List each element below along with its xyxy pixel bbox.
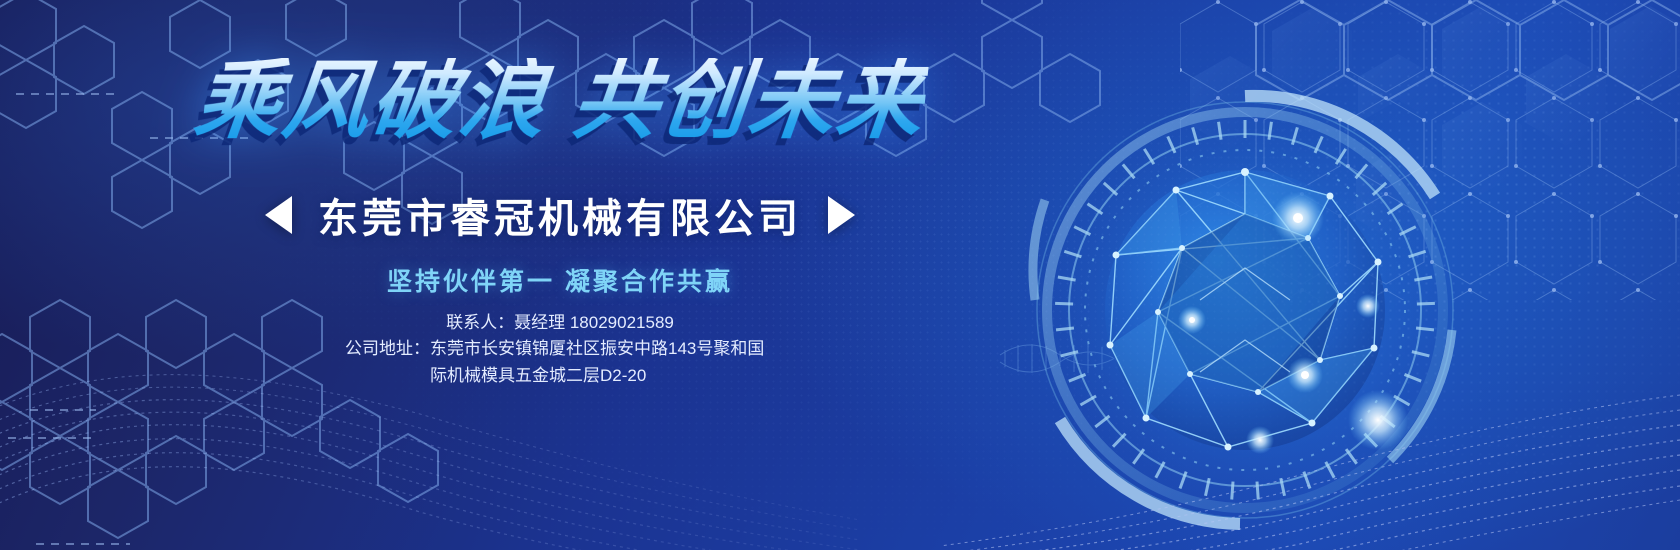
- promo-banner: 乘风破浪 共创未来 东莞市睿冠机械有限公司 坚持伙伴第一 凝聚合作共赢 联系人：…: [0, 0, 1680, 550]
- headline-wrap: 乘风破浪 共创未来: [0, 58, 1120, 144]
- banner-content: 乘风破浪 共创未来 东莞市睿冠机械有限公司 坚持伙伴第一 凝聚合作共赢 联系人：…: [0, 0, 1120, 550]
- address-value: 东莞市长安镇锦厦社区振安中路143号聚和国际机械模具五金城二层D2-20: [430, 336, 775, 389]
- page-title: 乘风破浪 共创未来: [191, 58, 930, 144]
- company-name: 东莞市睿冠机械有限公司: [318, 186, 802, 244]
- triangle-left-icon: [265, 196, 292, 234]
- network-globe-icon: [1105, 168, 1408, 454]
- company-row: 东莞市睿冠机械有限公司: [0, 186, 1120, 244]
- contact-block: 联系人：聂经理 18029021589 公司地址： 东莞市长安镇锦厦社区振安中路…: [0, 310, 1120, 389]
- address-label: 公司地址：: [345, 336, 430, 362]
- contact-person-line: 联系人：聂经理 18029021589: [0, 310, 1120, 336]
- hexagon-pattern-right: [1180, 0, 1680, 300]
- slogan: 坚持伙伴第一 凝聚合作共赢: [0, 262, 1120, 298]
- triangle-right-icon: [828, 196, 855, 234]
- address-row: 公司地址： 东莞市长安镇锦厦社区振安中路143号聚和国际机械模具五金城二层D2-…: [0, 336, 1120, 389]
